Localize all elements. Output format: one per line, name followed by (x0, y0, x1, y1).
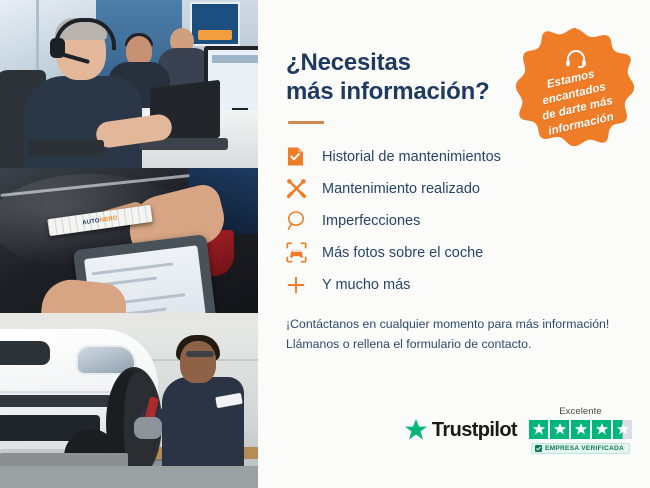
trustpilot-widget[interactable]: Trustpilot Excelente (404, 406, 632, 454)
mechanic-head (180, 341, 216, 383)
car-inspection-ruler-photo: AUTOHERO (0, 168, 258, 325)
document-check-icon (286, 146, 312, 167)
contact-text-line1: ¡Contáctanos en cualquier momento para m… (286, 314, 628, 334)
plus-icon (286, 275, 312, 295)
monitor-screen-bar (212, 55, 258, 63)
call-center-agent-photo (0, 0, 258, 168)
verified-company-badge: EMPRESA VERIFICADA (531, 443, 630, 454)
trustpilot-rating-label: Excelente (559, 406, 602, 417)
verified-check-icon (535, 445, 542, 452)
work-glove (134, 417, 162, 439)
page-title-line1: ¿Necesitas (286, 49, 411, 76)
car-grille (0, 341, 50, 365)
verified-company-label: EMPRESA VERIFICADA (545, 445, 624, 452)
car-bumper-vent (0, 395, 112, 407)
photo-column: AUTOHERO (0, 0, 258, 488)
badge-starburst-shape (508, 27, 644, 163)
car-lift-arm (0, 453, 128, 467)
star-half (613, 420, 632, 439)
information-banner: AUTOHERO (0, 0, 650, 488)
feature-item-maintenance-done: Mantenimiento realizado (286, 178, 628, 200)
page-title: ¿Necesitas más información? (286, 48, 506, 107)
title-underline (288, 121, 324, 124)
magnifier-icon (286, 210, 312, 231)
feature-label: Mantenimiento realizado (322, 181, 480, 197)
star-filled (529, 420, 548, 439)
feature-list: Historial de mantenimientos M (286, 146, 628, 296)
contact-text-line2: Llámanos o rellena el formulario de cont… (286, 334, 628, 354)
contact-text: ¡Contáctanos en cualquier momento para m… (286, 314, 628, 355)
tablet-text-line (92, 262, 174, 275)
promo-badge: Estamos encantados de darte más informac… (508, 27, 644, 163)
car-photo-frame-icon (286, 242, 312, 263)
feature-item-imperfections: Imperfecciones (286, 210, 628, 232)
workshop-floor (0, 466, 258, 488)
feature-label: Y mucho más (322, 277, 410, 293)
feature-label: Historial de mantenimientos (322, 149, 501, 165)
trustpilot-brand-text: Trustpilot (432, 419, 517, 442)
safety-glasses (186, 351, 214, 357)
trustpilot-star-icon (404, 419, 428, 442)
wrench-screwdriver-icon (286, 178, 312, 199)
feature-item-more: Y mucho más (286, 274, 628, 296)
mechanic-wheel-inspection-photo (0, 325, 258, 488)
feature-label: Imperfecciones (322, 213, 420, 229)
trustpilot-rating: Excelente (529, 406, 632, 454)
star-filled (592, 420, 611, 439)
wall-poster (190, 2, 240, 46)
star-filled (550, 420, 569, 439)
desk-tablet (28, 140, 104, 156)
content-panel: ¿Necesitas más información? Historial de… (258, 0, 650, 488)
photo-bottom-strip (0, 313, 258, 325)
feature-item-more-photos: Más fotos sobre el coche (286, 242, 628, 264)
trustpilot-logo: Trustpilot (404, 419, 517, 442)
feature-label: Más fotos sobre el coche (322, 245, 483, 261)
trustpilot-stars (529, 420, 632, 439)
page-title-line2: más información? (286, 78, 490, 105)
star-filled (571, 420, 590, 439)
